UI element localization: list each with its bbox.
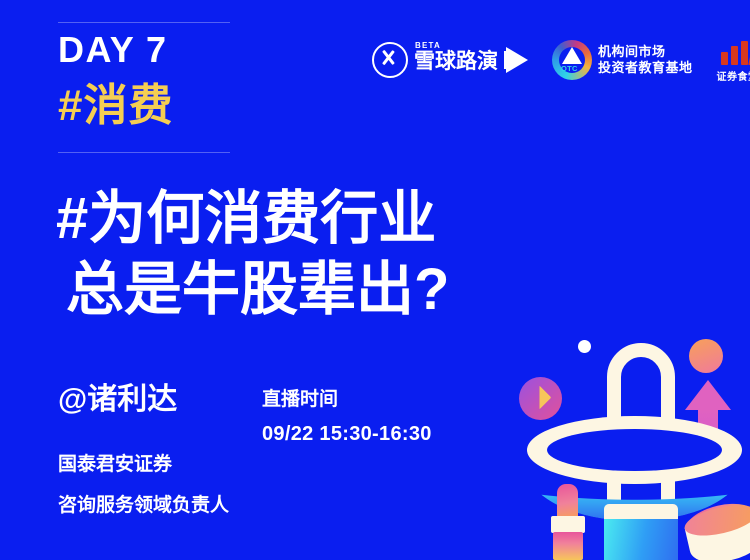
speaker-role: 咨询服务领域负责人 xyxy=(58,496,229,515)
speaker-organization: 国泰君安证券 xyxy=(58,455,172,474)
securities-canteen-wordmark: 证券食堂 xyxy=(717,68,750,83)
logo-otc-investor-education: OTC 机构间市场 投资者教育基地 xyxy=(552,40,693,80)
white-dot xyxy=(578,340,591,353)
bar-1 xyxy=(721,52,728,65)
paperclip-shape xyxy=(607,343,675,543)
bar-2 xyxy=(731,46,738,65)
beta-badge: BETA xyxy=(415,42,441,50)
headline: #为何消费行业 总是牛股辈出? xyxy=(56,184,449,326)
broadcast-time-label: 直播时间 xyxy=(262,390,338,409)
xueqiu-wordmark: 雪球路演 xyxy=(414,50,498,73)
lipstick-body xyxy=(553,532,583,560)
topic-tag: #消费 xyxy=(58,84,173,128)
lipstick-shape xyxy=(551,484,585,560)
play-triangle-icon xyxy=(504,47,528,73)
logo-securities-canteen: 证券食堂 xyxy=(717,39,750,81)
promo-poster: DAY 7 #消费 BETA 雪球路演 OTC 机构间市场 投资者教育基地 xyxy=(0,0,750,560)
cosmetic-jar-shape xyxy=(681,497,750,560)
orange-gradient-circle xyxy=(689,339,723,373)
header-divider-top xyxy=(58,22,230,23)
otc-triangle-shape xyxy=(562,47,582,64)
header-divider-bottom xyxy=(58,152,230,153)
arrow-stem xyxy=(698,409,718,436)
xueqiu-wordmark-wrap: BETA 雪球路演 xyxy=(414,47,498,73)
jar-body xyxy=(685,511,750,560)
cosmetic-bottle-cap xyxy=(604,504,678,519)
ascending-bars-shape xyxy=(721,39,750,65)
up-arrow-shape xyxy=(685,380,731,436)
headline-line-1: #为何消费行业 xyxy=(56,184,449,255)
lipstick-bullet xyxy=(557,484,578,518)
play-triangle-shape xyxy=(506,47,528,73)
ascending-bars-icon: 证券食堂 xyxy=(717,39,750,81)
bar-3 xyxy=(741,41,748,65)
lipstick-collar xyxy=(551,516,585,533)
cursor-triangle-shape xyxy=(527,385,551,409)
otc-wordmark-line1: 机构间市场 xyxy=(598,44,693,60)
otc-mark-text: OTC xyxy=(561,64,578,73)
broadcast-time-value: 09/22 15:30-16:30 xyxy=(262,424,432,444)
logo-xueqiu-roadshow: BETA 雪球路演 xyxy=(372,42,528,78)
ring-band-body xyxy=(527,416,742,521)
jar-lid xyxy=(681,497,750,543)
otc-swirl-icon: OTC xyxy=(552,40,592,80)
headline-line-2: 总是牛股辈出? xyxy=(56,255,449,326)
jar-rim xyxy=(682,499,750,541)
arrow-head xyxy=(685,380,731,410)
cursor-in-circle-icon xyxy=(519,377,562,420)
speaker-handle: @诸利达 xyxy=(58,385,177,415)
ring-band-top xyxy=(527,416,742,484)
day-label: DAY 7 xyxy=(58,32,168,68)
otc-wordmark: 机构间市场 投资者教育基地 xyxy=(598,44,693,77)
logo-strip: BETA 雪球路演 OTC 机构间市场 投资者教育基地 xyxy=(372,36,750,84)
xueqiu-circle-x-icon xyxy=(372,42,408,78)
ring-band-hole xyxy=(547,429,722,471)
cosmetic-bottle-shape xyxy=(604,504,678,560)
otc-wordmark-line2: 投资者教育基地 xyxy=(598,60,693,76)
ring-band-shape xyxy=(527,416,742,521)
